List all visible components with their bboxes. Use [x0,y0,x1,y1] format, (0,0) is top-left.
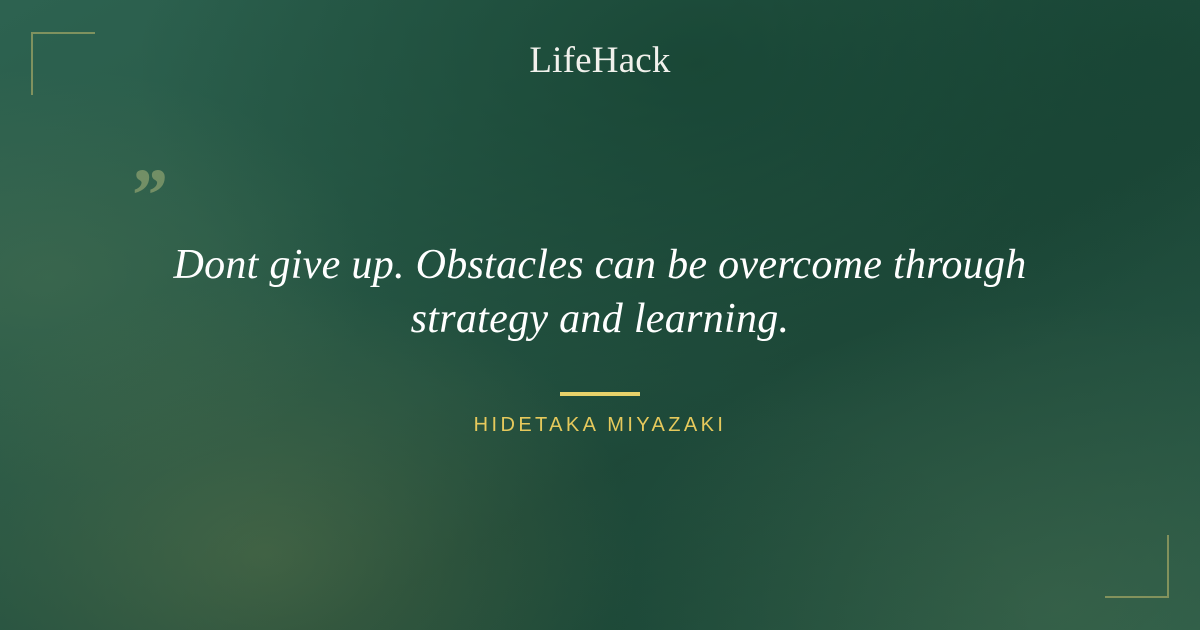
quote-author: HIDETAKA MIYAZAKI [0,412,1200,438]
brand-logo: LifeHack [0,40,1200,82]
quotation-mark-icon: ” [128,158,166,234]
corner-bracket-bottom-right-icon [1105,535,1169,598]
quote-card: LifeHack ” Dont give up. Obstacles can b… [0,0,1200,630]
divider-wrap [0,383,1200,401]
gold-divider [560,392,640,396]
quote-block: Dont give up. Obstacles can be overcome … [0,238,1200,346]
quote-text: Dont give up. Obstacles can be overcome … [100,238,1100,346]
